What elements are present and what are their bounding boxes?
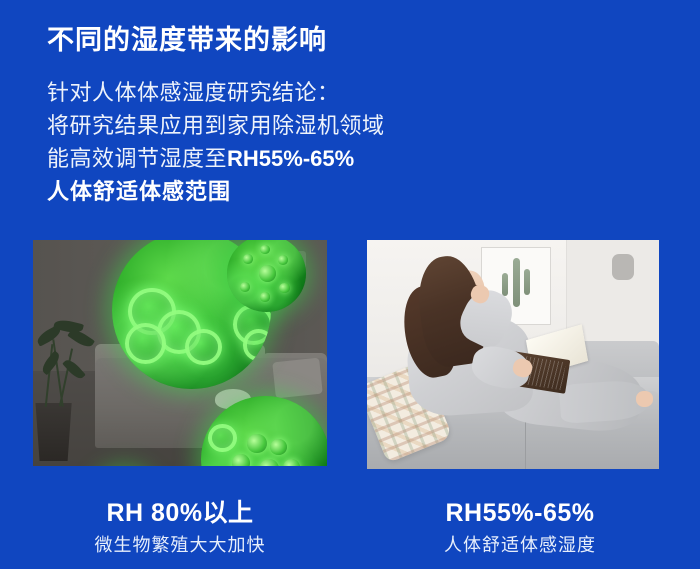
page-title: 不同的湿度带来的影响 — [47, 18, 327, 57]
woman-reading — [367, 240, 659, 469]
photo-high-humidity — [33, 240, 327, 466]
caption-high-humidity: RH 80%以上 微生物繁殖大大加快 — [30, 498, 330, 557]
plant-pot-dark — [33, 403, 74, 462]
caption-left-title: RH 80%以上 — [30, 498, 330, 528]
intro-line-3-prefix: 能高效调节湿度至 — [47, 146, 227, 171]
caption-comfort-humidity: RH55%-65% 人体舒适体感湿度 — [370, 498, 670, 557]
intro-line-3: 能高效调节湿度至RH55%-65% — [47, 142, 527, 175]
promo-page: 不同的湿度带来的影响 针对人体体感湿度研究结论： 将研究结果应用到家用除湿机领域… — [0, 0, 700, 569]
microbe-cluster-small-top — [227, 240, 306, 312]
caption-right-subtitle: 人体舒适体感湿度 — [370, 533, 670, 557]
sofa-cushion-dark — [272, 357, 323, 398]
dark-room-scene — [33, 240, 327, 466]
caption-left-subtitle: 微生物繁殖大大加快 — [30, 533, 330, 557]
humidity-range-value: RH55%-65% — [227, 146, 354, 171]
woman-foot — [636, 391, 654, 407]
caption-right-title: RH55%-65% — [370, 498, 670, 528]
microbe-cluster-bottom — [201, 396, 327, 466]
intro-line-4: 人体舒适体感范围 — [47, 175, 527, 208]
light-room-scene — [367, 240, 659, 469]
intro-line-1: 针对人体体感湿度研究结论： — [47, 76, 527, 109]
intro-line-2: 将研究结果应用到家用除湿机领域 — [47, 109, 527, 142]
intro-paragraph: 针对人体体感湿度研究结论： 将研究结果应用到家用除湿机领域 能高效调节湿度至RH… — [47, 76, 527, 208]
photo-comfort-humidity — [367, 240, 659, 469]
